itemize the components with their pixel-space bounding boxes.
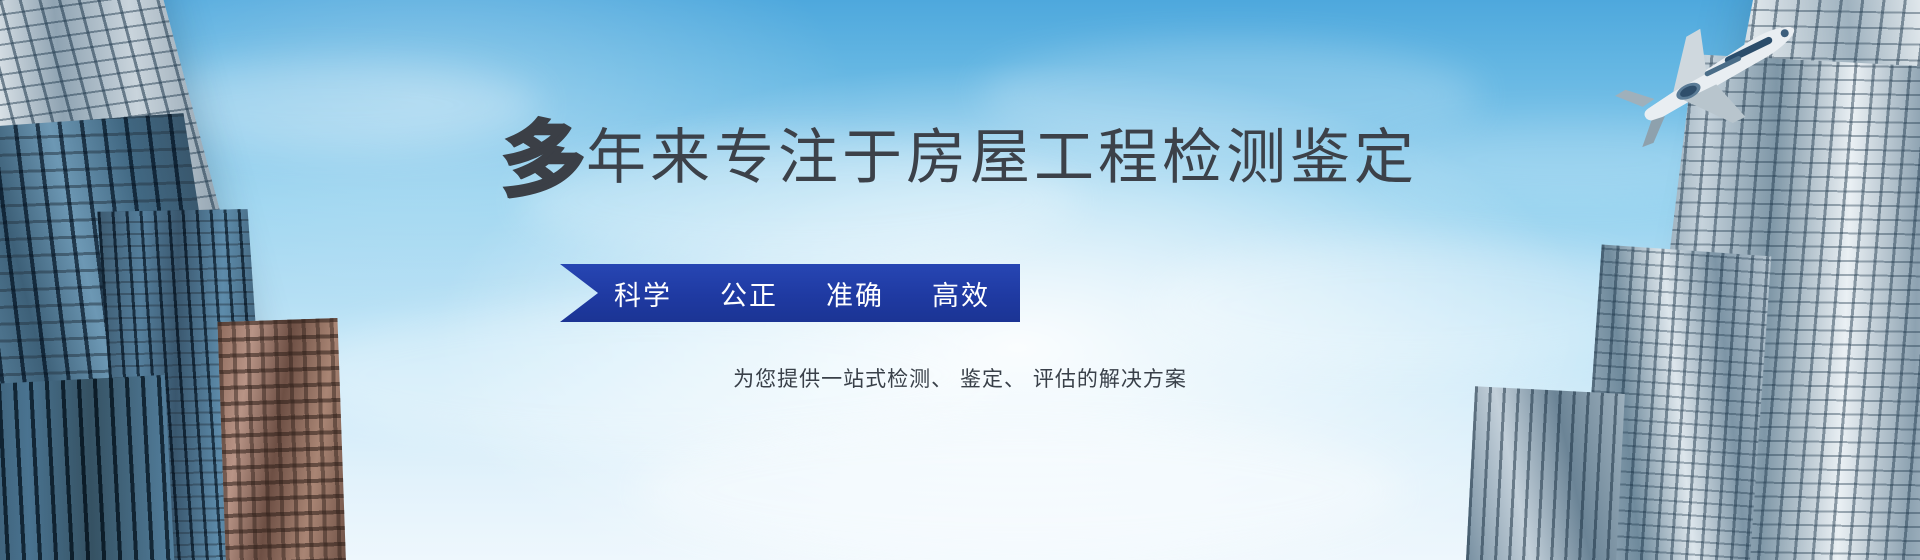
banner-hero: 多 年来专注于房屋工程检测鉴定 科学 公正 准确 高效 为您提供一站式检测、 鉴… <box>0 0 1920 560</box>
keywords-ribbon: 科学 公正 准确 高效 <box>560 264 1020 322</box>
headline-text: 年来专注于房屋工程检测鉴定 <box>586 128 1418 188</box>
keyword-item: 科学 <box>614 274 672 313</box>
keyword-item: 公正 <box>720 274 778 313</box>
keyword-item: 高效 <box>932 274 990 313</box>
headline-lead-glyph: 多 <box>501 120 585 202</box>
banner-content: 多 年来专注于房屋工程检测鉴定 科学 公正 准确 高效 为您提供一站式检测、 鉴… <box>0 0 1920 560</box>
keyword-item: 准确 <box>826 274 884 313</box>
banner-subtitle: 为您提供一站式检测、 鉴定、 评估的解决方案 <box>0 363 1920 393</box>
page-title: 多 年来专注于房屋工程检测鉴定 <box>0 117 1920 199</box>
keywords-list: 科学 公正 准确 高效 <box>572 274 1008 313</box>
